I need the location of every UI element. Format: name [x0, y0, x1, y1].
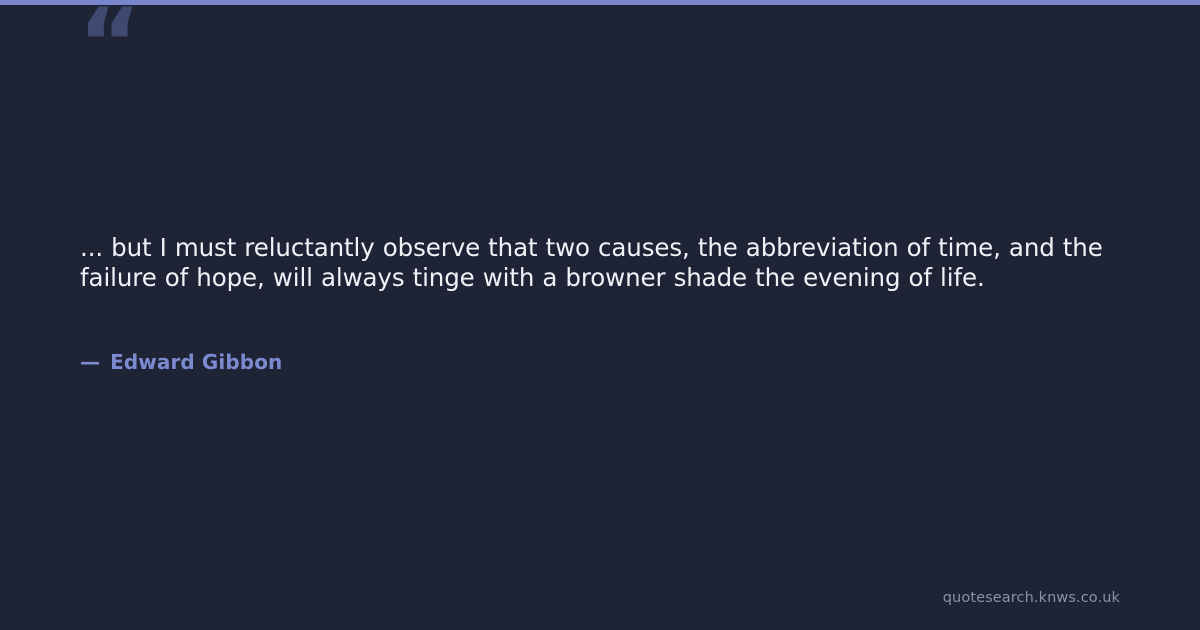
- top-accent-bar: [0, 0, 1200, 5]
- quote-body: ... but I must reluctantly observe that …: [80, 233, 1124, 293]
- quote-text: ... but I must reluctantly observe that …: [80, 233, 1124, 293]
- quote-card: “ ... but I must reluctantly observe tha…: [0, 0, 1200, 630]
- author-name: Edward Gibbon: [110, 350, 282, 374]
- open-quote-icon: “: [78, 0, 139, 92]
- em-dash-separator: —: [80, 350, 100, 374]
- quote-attribution: — Edward Gibbon: [80, 350, 282, 374]
- site-watermark: quotesearch.knws.co.uk: [943, 590, 1120, 606]
